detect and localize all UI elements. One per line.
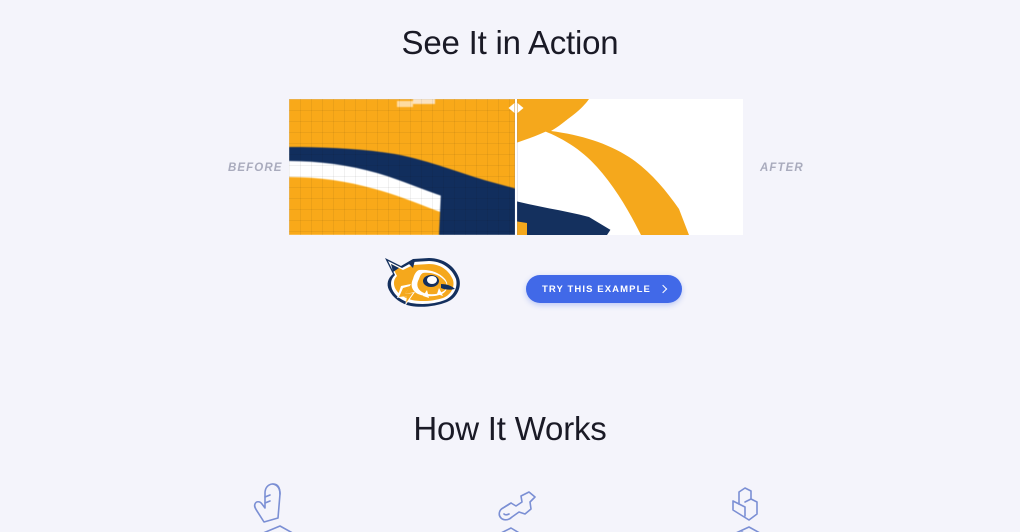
step-3-icon-wrap [709, 474, 795, 532]
bobcat-mascot-logo[interactable] [377, 252, 465, 312]
how-it-works-title: How It Works [0, 410, 1020, 448]
chevron-right-icon [659, 284, 667, 292]
before-label: BEFORE [228, 162, 283, 174]
chevron-right-icon [518, 103, 524, 113]
after-label: AFTER [760, 162, 804, 174]
try-this-example-button[interactable]: TRY THIS EXAMPLE [526, 275, 682, 303]
comparison-slider-handle[interactable] [509, 103, 524, 113]
step-1-icon-wrap [236, 474, 322, 532]
before-after-comparison[interactable] [289, 99, 743, 235]
comparison-frame[interactable] [289, 99, 743, 235]
download-arrow-icon [709, 474, 795, 532]
chevron-left-icon [509, 103, 515, 113]
step-2-icon-wrap [473, 474, 559, 532]
page-title: See It in Action [0, 24, 1020, 62]
cta-label: TRY THIS EXAMPLE [542, 284, 651, 295]
comparison-slider-divider[interactable] [515, 99, 517, 235]
wrench-icon [473, 474, 559, 532]
before-image [289, 99, 516, 235]
upload-hand-icon [236, 474, 322, 532]
